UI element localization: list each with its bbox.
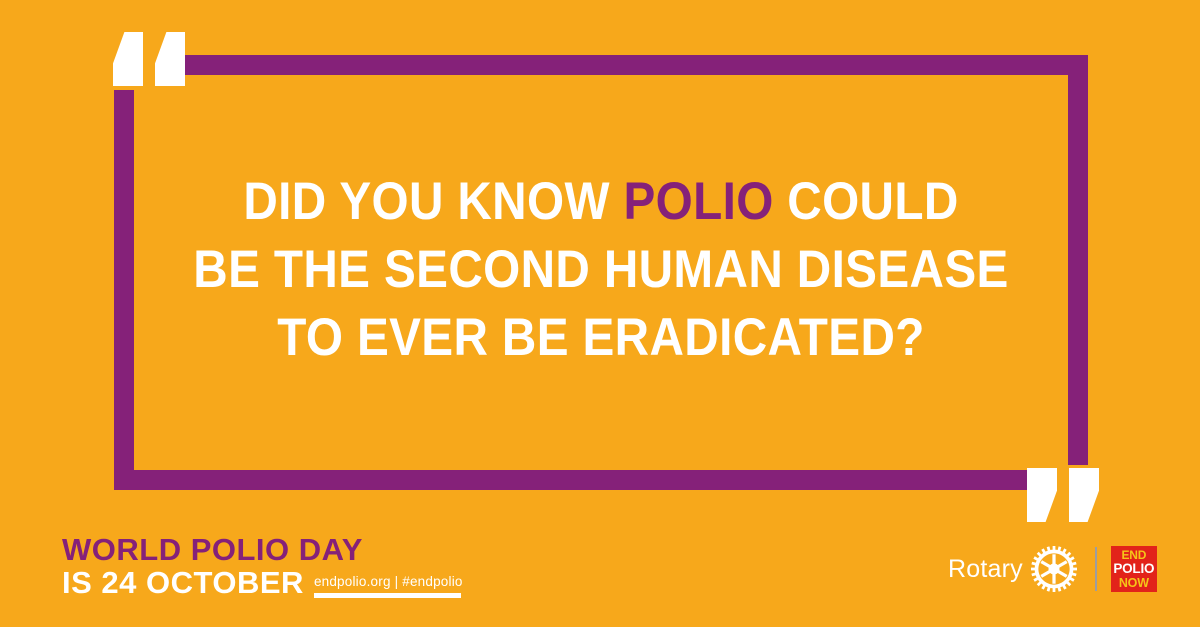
campaign-lockup: WORLD POLIO DAY IS 24 OCTOBER endpolio.o… (62, 534, 463, 599)
rotary-wordmark: Rotary (948, 557, 1023, 582)
headline-line-1-part-1: DID YOU KNOW (243, 172, 623, 231)
frame-bar-bottom (114, 470, 1032, 490)
close-quote-glyph-1 (1027, 468, 1057, 522)
open-quote-icon (113, 32, 197, 86)
close-quote-icon (1027, 468, 1099, 522)
headline-accent-polio: POLIO (623, 172, 773, 231)
logo-divider (1095, 547, 1097, 591)
campaign-urls-block: endpolio.org | #endpolio (314, 574, 463, 599)
headline-line-1: DID YOU KNOW POLIO COULD (181, 168, 1022, 236)
campaign-title-line-2: IS 24 OCTOBER (62, 567, 304, 599)
poster-canvas: DID YOU KNOW POLIO COULD BE THE SECOND H… (0, 0, 1200, 627)
epn-line-now: NOW (1119, 577, 1149, 590)
campaign-underline-rule (314, 593, 461, 598)
campaign-title-line-1: WORLD POLIO DAY (62, 534, 463, 566)
epn-line-end: END (1121, 549, 1146, 561)
frame-bar-top (176, 55, 1088, 75)
rotary-wheel-icon (1031, 546, 1077, 592)
headline-text: DID YOU KNOW POLIO COULD BE THE SECOND H… (181, 168, 1022, 372)
campaign-urls: endpolio.org | #endpolio (314, 574, 463, 589)
headline-line-3: TO EVER BE ERADICATED? (181, 304, 1022, 372)
open-quote-glyph-2 (155, 32, 185, 86)
campaign-subtitle-row: IS 24 OCTOBER endpolio.org | #endpolio (62, 567, 463, 599)
close-quote-glyph-2 (1069, 468, 1099, 522)
headline-line-1-part-2: COULD (774, 172, 959, 231)
frame-bar-right (1068, 55, 1088, 465)
brand-logos: Rotary (948, 546, 1157, 592)
end-polio-now-badge: END POLIO NOW (1111, 546, 1157, 592)
epn-line-polio: POLIO (1113, 562, 1154, 576)
open-quote-glyph-1 (113, 32, 143, 86)
headline-line-2: BE THE SECOND HUMAN DISEASE (181, 236, 1022, 304)
frame-bar-left (114, 90, 134, 490)
